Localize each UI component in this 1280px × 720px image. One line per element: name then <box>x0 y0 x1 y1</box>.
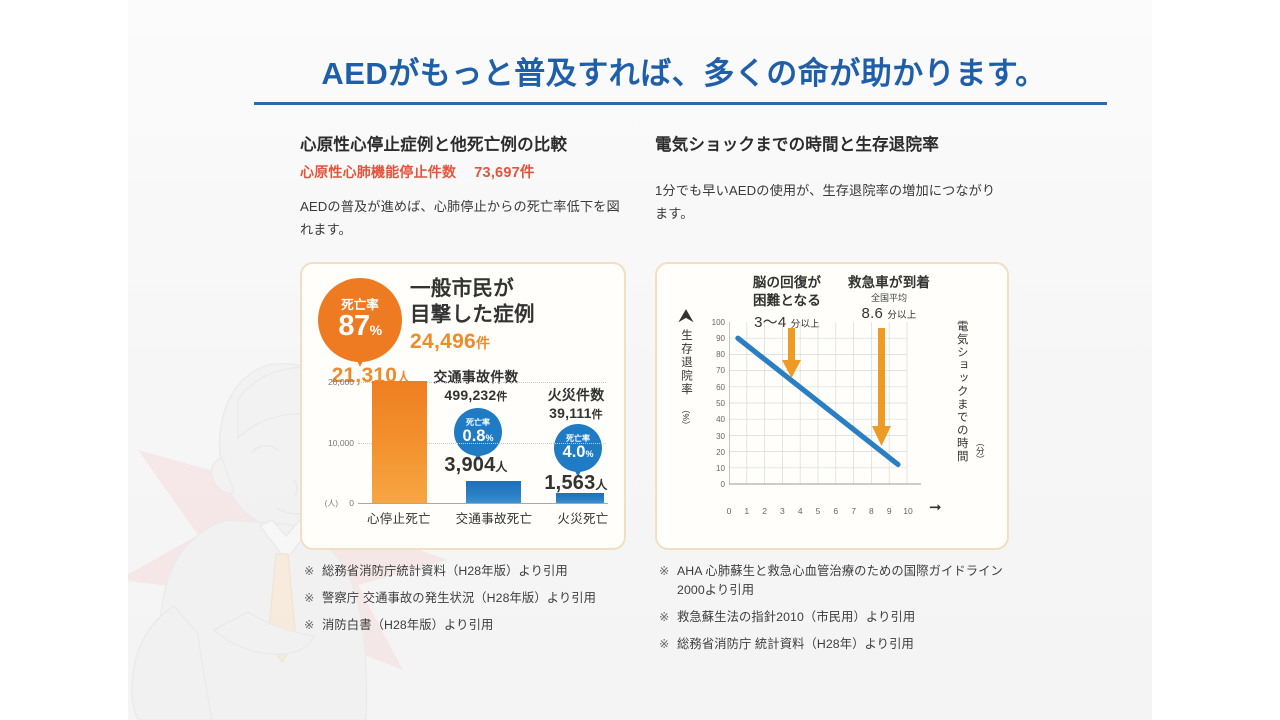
note-mark-icon: ※ <box>304 562 322 581</box>
r-y-tick-10: 10 <box>716 464 725 473</box>
footnote-item: ※AHA 心肺蘇生と救急心血管治療のための国際ガイドライン2000より引用 <box>659 562 1009 600</box>
r-y-tick-90: 90 <box>716 334 725 343</box>
r-x-tick-10: 10 <box>899 506 917 516</box>
note-mark-icon: ※ <box>659 562 677 600</box>
death-rate-badge-value: 87% <box>338 312 381 341</box>
r-y-tick-80: 80 <box>716 350 725 359</box>
line-chart-svg <box>729 322 925 502</box>
r-x-tick-2: 2 <box>758 506 772 516</box>
left-subheading-label: 心原性心肺機能停止件数 <box>300 164 456 180</box>
r-x-tick-4: 4 <box>793 506 807 516</box>
right-footnotes: ※AHA 心肺蘇生と救急心血管治療のための国際ガイドライン2000より引用 ※救… <box>659 562 1009 662</box>
annotation-2-small: 全国平均 <box>839 293 939 304</box>
death-rate-badge: 死亡率 87% <box>318 278 402 362</box>
footnote-item: ※救急蘇生法の指針2010（市民用）より引用 <box>659 608 1009 627</box>
note-text: 総務省消防庁 統計資料（H28年）より引用 <box>677 635 1009 654</box>
left-column: 心原性心停止症例と他死亡例の比較 心原性心肺機能停止件数 73,697件 AED… <box>300 134 622 242</box>
y-tick-0: 0 <box>349 498 354 508</box>
r-x-tick-9: 9 <box>882 506 896 516</box>
footnote-item: ※警察庁 交通事故の発生状況（H28年版）より引用 <box>304 589 634 608</box>
title-container: AEDがもっと普及すれば、多くの命が助かります。 <box>254 57 1114 91</box>
note-mark-icon: ※ <box>304 616 322 635</box>
annotation-ambulance-arrival: 救急車が到着 全国平均 8.6 分以上 <box>839 274 939 322</box>
witnessed-cases-count: 24,496件 <box>410 329 535 355</box>
line-chart-plot-area: 100 90 80 70 60 50 40 30 20 10 0 0 1 2 3… <box>729 322 925 502</box>
r-y-tick-50: 50 <box>716 399 725 408</box>
survival-axis-label-group: ⮝ 生存退院率 （%） <box>671 308 701 434</box>
note-mark-icon: ※ <box>659 635 677 654</box>
note-mark-icon: ※ <box>659 608 677 627</box>
r-x-tick-7: 7 <box>847 506 861 516</box>
r-y-tick-100: 100 <box>712 318 725 327</box>
footnote-item: ※消防白書（H28年版）より引用 <box>304 616 634 635</box>
r-x-tick-6: 6 <box>829 506 843 516</box>
right-chart-card: 脳の回復が 困難となる 3〜4 分以上 救急車が到着 全国平均 8.6 分以上 … <box>655 262 1009 550</box>
page-title: AEDがもっと普及すれば、多くの命が助かります。 <box>254 57 1114 91</box>
r-y-tick-0: 0 <box>721 480 725 489</box>
r-x-tick-3: 3 <box>775 506 789 516</box>
left-subheading: 心原性心肺機能停止件数 73,697件 <box>300 161 622 182</box>
bar-chart-plot-area: 20,000 10,000 0 (人) 心停止死亡 交通事故死亡 火災死亡 <box>358 360 606 504</box>
y-axis-unit-label: （%） <box>680 405 692 430</box>
r-y-tick-40: 40 <box>716 415 725 424</box>
left-body-text: AEDの普及が進めば、心肺停止からの死亡率低下を図れます。 <box>300 196 622 241</box>
r-x-tick-0: 0 <box>722 506 736 516</box>
r-x-tick-8: 8 <box>864 506 878 516</box>
annotation-1-line-1: 脳の回復が <box>741 274 833 292</box>
y-axis-unit: (人) <box>325 498 338 509</box>
x-label-fire: 火災死亡 <box>542 508 624 527</box>
bar-traffic-accident <box>466 481 521 503</box>
note-text: AHA 心肺蘇生と救急心血管治療のための国際ガイドライン2000より引用 <box>677 562 1009 600</box>
side-axis-unit-label: （分） <box>974 438 986 464</box>
headline-line-1: 一般市民が <box>410 276 535 302</box>
up-arrow-icon: ⮝ <box>671 308 701 325</box>
witnessed-cases-headline: 一般市民が 目撃した症例 24,496件 <box>410 276 535 355</box>
death-rate-badge-circle: 死亡率 87% <box>318 278 402 362</box>
left-chart-card: 死亡率 87% 一般市民が 目撃した症例 24,496件 21,310人 交通事… <box>300 262 626 550</box>
note-text: 警察庁 交通事故の発生状況（H28年版）より引用 <box>322 589 634 608</box>
annotation-2-time: 8.6 分以上 <box>839 305 939 322</box>
note-text: 消防白書（H28年版）より引用 <box>322 616 634 635</box>
note-text: 総務省消防庁統計資料（H28年版）より引用 <box>322 562 634 581</box>
r-y-tick-60: 60 <box>716 383 725 392</box>
bar-chart-baseline <box>358 503 608 504</box>
time-axis-label-group: 電気ショックまでの時間 （分） <box>953 320 987 468</box>
title-underline <box>254 102 1107 105</box>
x-label-traffic: 交通事故死亡 <box>436 508 552 527</box>
bar-cardiac-arrest <box>372 381 427 503</box>
slide-canvas: AEDがもっと普及すれば、多くの命が助かります。 心原性心停止症例と他死亡例の比… <box>128 0 1152 720</box>
y-tick-20000: 20,000 <box>328 377 354 387</box>
annotation-1-line-2: 困難となる <box>741 292 833 310</box>
side-axis-title: 電気ショックまでの時間 <box>954 320 970 463</box>
note-text: 救急蘇生法の指針2010（市民用）より引用 <box>677 608 1009 627</box>
note-mark-icon: ※ <box>304 589 322 608</box>
bar-fire <box>556 493 604 503</box>
r-x-tick-1: 1 <box>740 506 754 516</box>
r-x-tick-5: 5 <box>811 506 825 516</box>
right-column: 電気ショックまでの時間と生存退院率 1分でも早いAEDの使用が、生存退院率の増加… <box>655 134 1005 226</box>
left-footnotes: ※総務省消防庁統計資料（H28年版）より引用 ※警察庁 交通事故の発生状況（H2… <box>304 562 634 643</box>
right-arrow-icon: ➞ <box>929 500 942 515</box>
r-y-tick-70: 70 <box>716 366 725 375</box>
footnote-item: ※総務省消防庁統計資料（H28年版）より引用 <box>304 562 634 581</box>
left-subheading-value: 73,697件 <box>474 165 534 181</box>
right-body-text: 1分でも早いAEDの使用が、生存退院率の増加につながります。 <box>655 180 1005 225</box>
left-heading: 心原性心停止症例と他死亡例の比較 <box>300 134 622 156</box>
footnote-item: ※総務省消防庁 統計資料（H28年）より引用 <box>659 635 1009 654</box>
headline-line-2: 目撃した症例 <box>410 302 535 328</box>
r-y-tick-30: 30 <box>716 432 725 441</box>
y-tick-10000: 10,000 <box>328 438 354 448</box>
y-axis-title: 生存退院率 <box>678 329 694 397</box>
r-y-tick-20: 20 <box>716 448 725 457</box>
annotation-2-line-1: 救急車が到着 <box>839 274 939 292</box>
right-heading: 電気ショックまでの時間と生存退院率 <box>655 134 1005 156</box>
